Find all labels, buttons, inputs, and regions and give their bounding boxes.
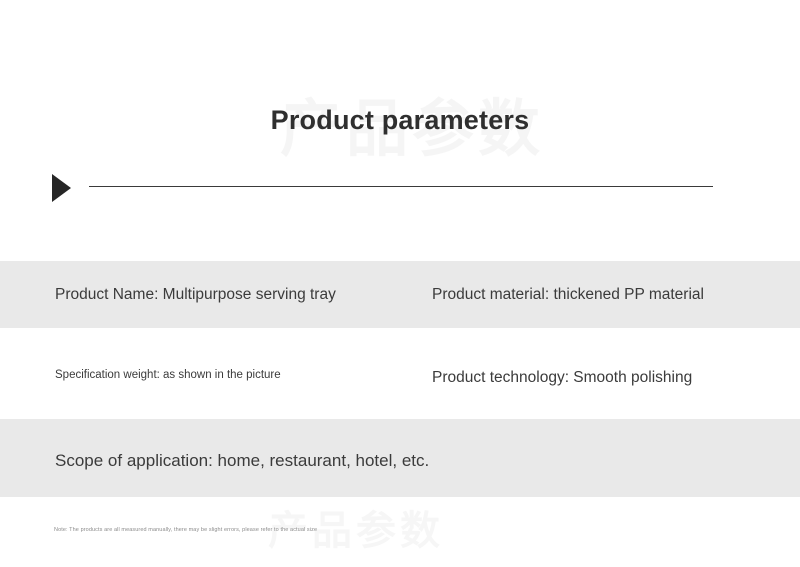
page-title: Product parameters — [0, 105, 800, 136]
spec-label-product-material: Product material: thickened PP material — [432, 286, 704, 304]
play-triangle-icon — [52, 174, 71, 202]
spec-label-product-name: Product Name: Multipurpose serving tray — [55, 286, 336, 304]
spec-label-scope-of-application: Scope of application: home, restaurant, … — [55, 451, 429, 471]
footnote-text: Note: The products are all measured manu… — [54, 527, 317, 533]
product-parameters-page: 产品参数 产品参数 产品参数 Product parameters Produc… — [0, 0, 800, 567]
spec-label-product-technology: Product technology: Smooth polishing — [432, 369, 692, 387]
divider-line — [89, 186, 713, 187]
spec-label-specification-weight: Specification weight: as shown in the pi… — [55, 369, 281, 381]
section-divider — [52, 172, 752, 204]
